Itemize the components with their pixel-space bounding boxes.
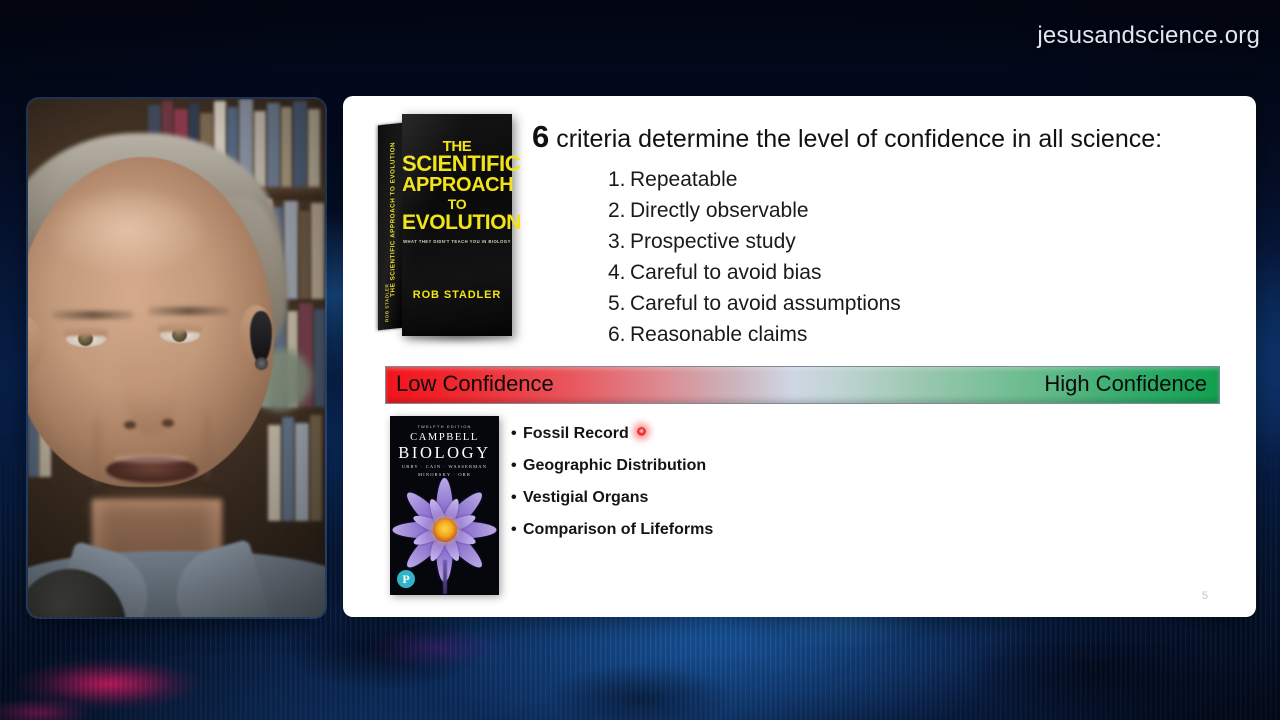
evidence-label: Geographic Distribution [523,457,706,474]
book-title-line-the: THE [402,140,512,154]
evidence-label: Fossil Record [523,425,629,442]
criteria-label: Prospective study [630,230,796,253]
criteria-item: 1.Repeatable [608,164,901,195]
bullet-icon: • [511,426,523,442]
book-front-cover: THE SCIENTIFIC APPROACH TO EVOLUTION WHA… [402,114,512,336]
evidence-item: •Fossil Record [511,426,713,442]
speaker-video-feed[interactable] [28,99,325,617]
low-confidence-label: Low Confidence [396,371,554,397]
presentation-slide: THE SCIENTIFIC APPROACH TO EVOLUTION ROB… [343,96,1256,617]
heading-text: criteria determine the level of confiden… [549,125,1162,153]
evidence-item: •Geographic Distribution [511,458,713,474]
criteria-item: 2.Directly observable [608,195,901,226]
biology-authors-2: MINORSKY · ORR [390,472,499,477]
book-author: ROB STADLER [402,290,512,300]
criteria-list: 1.Repeatable 2.Directly observable 3.Pro… [608,164,901,350]
biology-title: BIOLOGY [390,443,499,463]
pearson-logo: P [397,570,415,588]
video-vignette [28,99,325,617]
criteria-number: 5. [608,288,630,319]
criteria-number: 6. [608,319,630,350]
criteria-item: 3.Prospective study [608,226,901,257]
book-subtitle: WHAT THEY DIDN'T TEACH YOU IN BIOLOGY [402,240,512,244]
heading-number: 6 [532,119,549,154]
evidence-list: •Fossil Record •Geographic Distribution … [511,426,713,554]
evidence-item: •Comparison of Lifeforms [511,522,713,538]
book-spine-title: THE SCIENTIFIC APPROACH TO EVOLUTION [390,121,397,318]
biology-authors-1: URRY · CAIN · WASSERMAN [390,464,499,469]
criteria-item: 6.Reasonable claims [608,319,901,350]
book-title-line-evolution: EVOLUTION [402,213,512,233]
criteria-item: 4.Careful to avoid bias [608,257,901,288]
lily-center [433,518,457,542]
evidence-item: •Vestigial Organs [511,490,713,506]
criteria-number: 3. [608,226,630,257]
laser-pointer-dot [637,427,646,436]
criteria-label: Repeatable [630,168,737,191]
criteria-label: Careful to avoid assumptions [630,292,901,315]
criteria-item: 5.Careful to avoid assumptions [608,288,901,319]
lily-stem [443,560,447,594]
water-lily-image [394,482,495,578]
biology-edition: TWELFTH EDITION [390,424,499,429]
criteria-number: 4. [608,257,630,288]
high-confidence-label: High Confidence [1044,371,1207,397]
criteria-number: 2. [608,195,630,226]
criteria-label: Directly observable [630,199,809,222]
biology-campbell: CAMPBELL [390,432,499,443]
book-title-line-approach: APPROACH [402,176,512,195]
slide-heading: 6 criteria determine the level of confid… [532,120,1232,154]
criteria-label: Careful to avoid bias [630,261,821,284]
book-spine: THE SCIENTIFIC APPROACH TO EVOLUTION ROB… [378,123,404,331]
bullet-icon: • [511,458,523,474]
book-cover-campbell-biology: TWELFTH EDITION CAMPBELL BIOLOGY URRY · … [390,416,499,595]
book-drop-shadow [395,332,521,344]
book-title-line-to: TO [402,198,512,211]
bullet-icon: • [511,490,523,506]
confidence-gradient-bar: Low Confidence High Confidence [385,366,1220,404]
slide-number: 5 [1202,590,1208,602]
bullet-icon: • [511,522,523,538]
criteria-label: Reasonable claims [630,323,807,346]
book-spine-author: ROB STADLER [385,270,390,337]
site-watermark: jesusandscience.org [1037,22,1260,50]
evidence-label: Comparison of Lifeforms [523,521,713,538]
evidence-label: Vestigial Organs [523,489,648,506]
criteria-number: 1. [608,164,630,195]
book-cover-scientific-approach-to-evolution: THE SCIENTIFIC APPROACH TO EVOLUTION ROB… [373,110,525,338]
book-title-line-scientific: SCIENTIFIC [402,154,512,175]
